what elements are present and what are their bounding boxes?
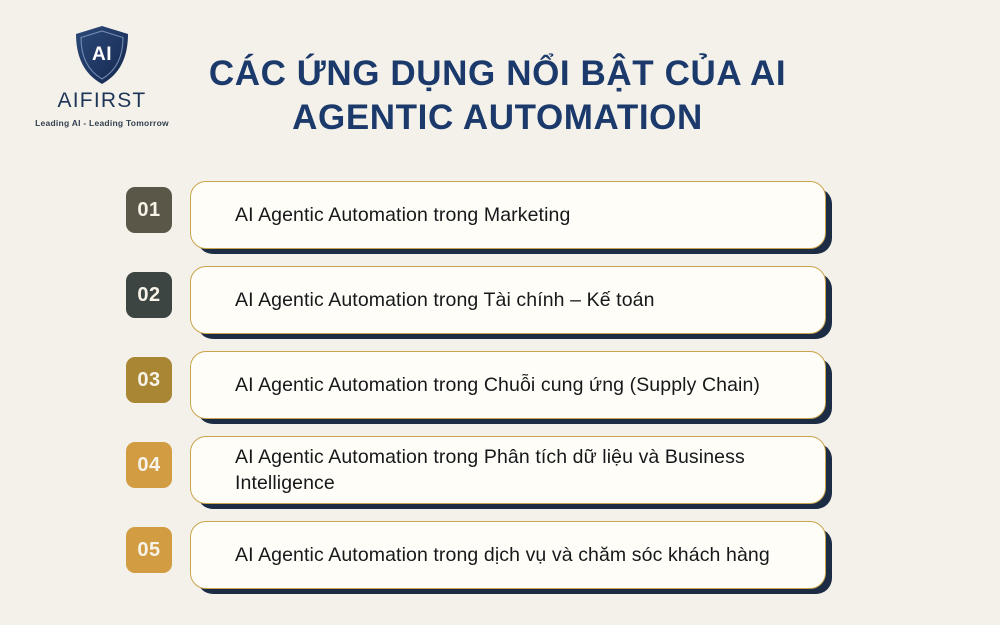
card-body[interactable]: AI Agentic Automation trong Marketing [190,181,826,249]
card-body[interactable]: AI Agentic Automation trong Phân tích dữ… [190,436,826,504]
brand-name: AIFIRST [58,89,147,113]
svg-text:AI: AI [92,44,112,65]
item-card[interactable]: AI Agentic Automation trong Tài chính – … [190,266,826,334]
list-item[interactable]: 05 AI Agentic Automation trong dịch vụ v… [126,521,826,591]
application-list: 01 AI Agentic Automation trong Marketing… [126,181,826,606]
brand-logo: AI AIFIRST Leading AI - Leading Tomorrow [22,24,182,136]
card-body[interactable]: AI Agentic Automation trong Tài chính – … [190,266,826,334]
list-item[interactable]: 03 AI Agentic Automation trong Chuỗi cun… [126,351,826,421]
item-label: AI Agentic Automation trong dịch vụ và c… [235,542,770,568]
list-item[interactable]: 01 AI Agentic Automation trong Marketing [126,181,826,251]
card-body[interactable]: AI Agentic Automation trong dịch vụ và c… [190,521,826,589]
item-card[interactable]: AI Agentic Automation trong dịch vụ và c… [190,521,826,589]
shield-icon: AI [73,24,131,86]
card-body[interactable]: AI Agentic Automation trong Chuỗi cung ứ… [190,351,826,419]
item-card[interactable]: AI Agentic Automation trong Marketing [190,181,826,249]
title-line-2: AGENTIC AUTOMATION [185,96,810,140]
item-number-badge: 02 [126,272,172,318]
item-number-badge: 03 [126,357,172,403]
item-label: AI Agentic Automation trong Chuỗi cung ứ… [235,372,760,398]
brand-tagline: Leading AI - Leading Tomorrow [35,118,169,128]
item-label: AI Agentic Automation trong Marketing [235,202,570,228]
item-label: AI Agentic Automation trong Tài chính – … [235,287,655,313]
page-title: CÁC ỨNG DỤNG NỔI BẬT CỦA AI AGENTIC AUTO… [185,52,810,141]
item-card[interactable]: AI Agentic Automation trong Phân tích dữ… [190,436,826,504]
item-card[interactable]: AI Agentic Automation trong Chuỗi cung ứ… [190,351,826,419]
item-number-badge: 01 [126,187,172,233]
item-number-badge: 04 [126,442,172,488]
item-number-badge: 05 [126,527,172,573]
list-item[interactable]: 04 AI Agentic Automation trong Phân tích… [126,436,826,506]
item-label: AI Agentic Automation trong Phân tích dữ… [235,444,805,496]
list-item[interactable]: 02 AI Agentic Automation trong Tài chính… [126,266,826,336]
title-line-1: CÁC ỨNG DỤNG NỔI BẬT CỦA AI [185,52,810,96]
